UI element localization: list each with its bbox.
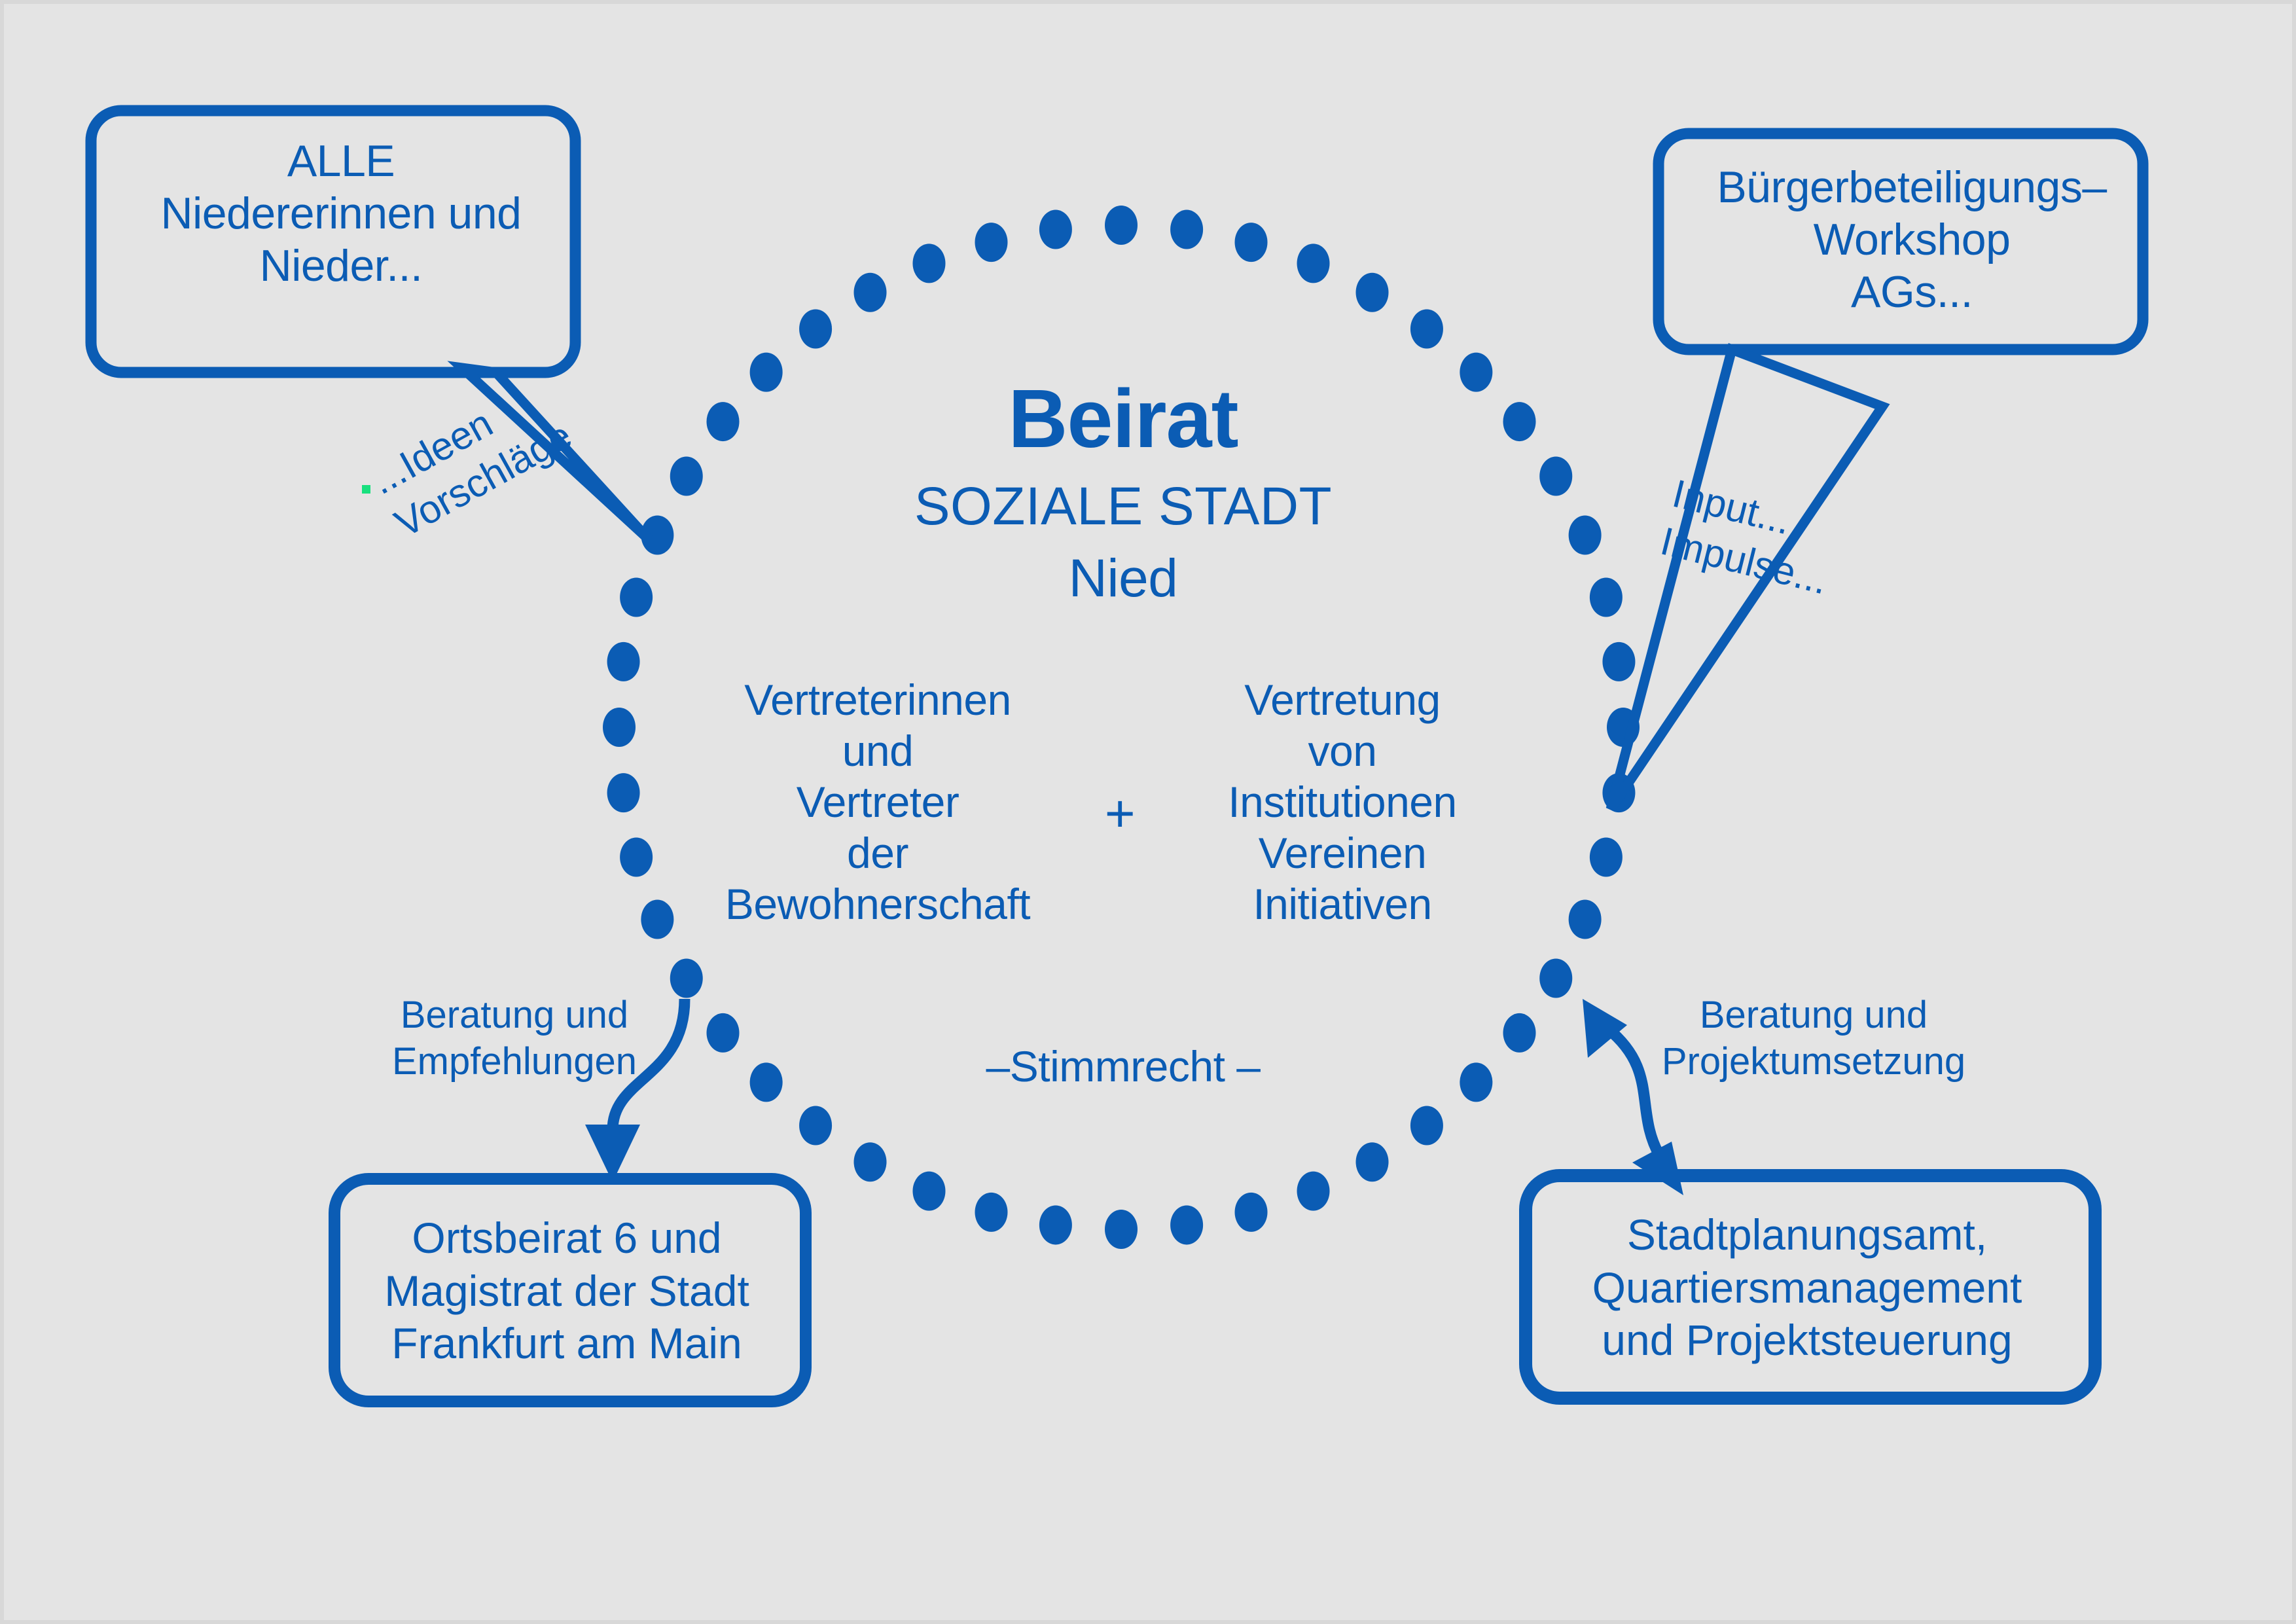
center-subtitle-line1: SOZIALE STADT	[829, 475, 1418, 539]
ring-dot	[1503, 402, 1536, 441]
ring-dot	[1590, 577, 1623, 617]
ring-dot	[975, 223, 1007, 262]
center-title: Beirat	[829, 370, 1418, 468]
arrow-label-bottom-left: Beratung und Empfehlungen	[331, 992, 698, 1085]
ring-dot	[1539, 959, 1572, 998]
arrow-label-bottom-right: Beratung und Projektumsetzung	[1630, 992, 1997, 1085]
ring-dot	[799, 310, 832, 349]
ring-dot	[1356, 273, 1389, 312]
center-subtitle-line2: Nied	[829, 547, 1418, 611]
ring-dot	[1039, 210, 1072, 249]
ring-dot	[607, 642, 640, 681]
ring-dot	[607, 773, 640, 812]
ring-dot	[1410, 1106, 1443, 1146]
speech-bubble-top-right-text: Bürgerbeteiligungs– Workshop AGs...	[1670, 161, 2154, 319]
ring-dot	[750, 1062, 783, 1102]
ring-dot	[975, 1193, 1007, 1232]
ring-dot	[1503, 1013, 1536, 1053]
ring-dot	[912, 1172, 945, 1211]
ring-dot	[1105, 206, 1138, 245]
ring-dot	[1297, 1172, 1330, 1211]
ring-dot	[1410, 310, 1443, 349]
ring-dot	[1460, 353, 1492, 392]
ring-dot	[1602, 642, 1635, 681]
ring-dot	[1356, 1142, 1389, 1182]
ring-dot	[1235, 1193, 1268, 1232]
speech-bubble-top-left-text: ALLE Niedererinnen und Nieder...	[102, 135, 580, 293]
green-marker-icon	[362, 485, 370, 494]
ring-dot	[1569, 515, 1602, 554]
ring-dot	[1039, 1205, 1072, 1244]
box-bottom-left-text: Ortsbeirat 6 und Magistrat der Stadt Fra…	[344, 1212, 789, 1370]
box-bottom-right-text: Stadtplanungsamt, Quartiersmanagement un…	[1535, 1208, 2079, 1367]
ring-dot	[670, 457, 703, 496]
ring-dot	[1170, 210, 1203, 249]
ring-dot	[799, 1106, 832, 1146]
ring-dot	[1539, 457, 1572, 496]
ring-dot	[912, 244, 945, 283]
ring-dot	[854, 273, 887, 312]
center-footnote-stimmrecht: –Stimmrecht –	[920, 1041, 1326, 1092]
ring-dot	[1297, 244, 1330, 283]
ring-dot	[854, 1142, 887, 1182]
ring-dot	[1105, 1210, 1138, 1249]
ring-dot	[1460, 1062, 1492, 1102]
center-plus-symbol: +	[1071, 783, 1169, 844]
ring-dot	[603, 708, 636, 747]
ring-dot	[1235, 223, 1268, 262]
ring-dot	[707, 1013, 740, 1053]
ring-dot	[750, 353, 783, 392]
ring-dot	[620, 838, 653, 877]
diagram-canvas: ALLE Niedererinnen und Nieder... Bürgerb…	[0, 0, 2296, 1624]
center-column-right: Vertretung von Institutionen Vereinen In…	[1179, 675, 1506, 929]
ring-dot	[1569, 900, 1602, 939]
ring-dot	[1170, 1205, 1203, 1244]
ring-dot	[641, 900, 673, 939]
ring-dot	[707, 402, 740, 441]
ring-dot	[1590, 838, 1623, 877]
center-column-left: Vertreterinnen und Vertreter der Bewohne…	[694, 675, 1061, 929]
ring-dot	[620, 577, 653, 617]
